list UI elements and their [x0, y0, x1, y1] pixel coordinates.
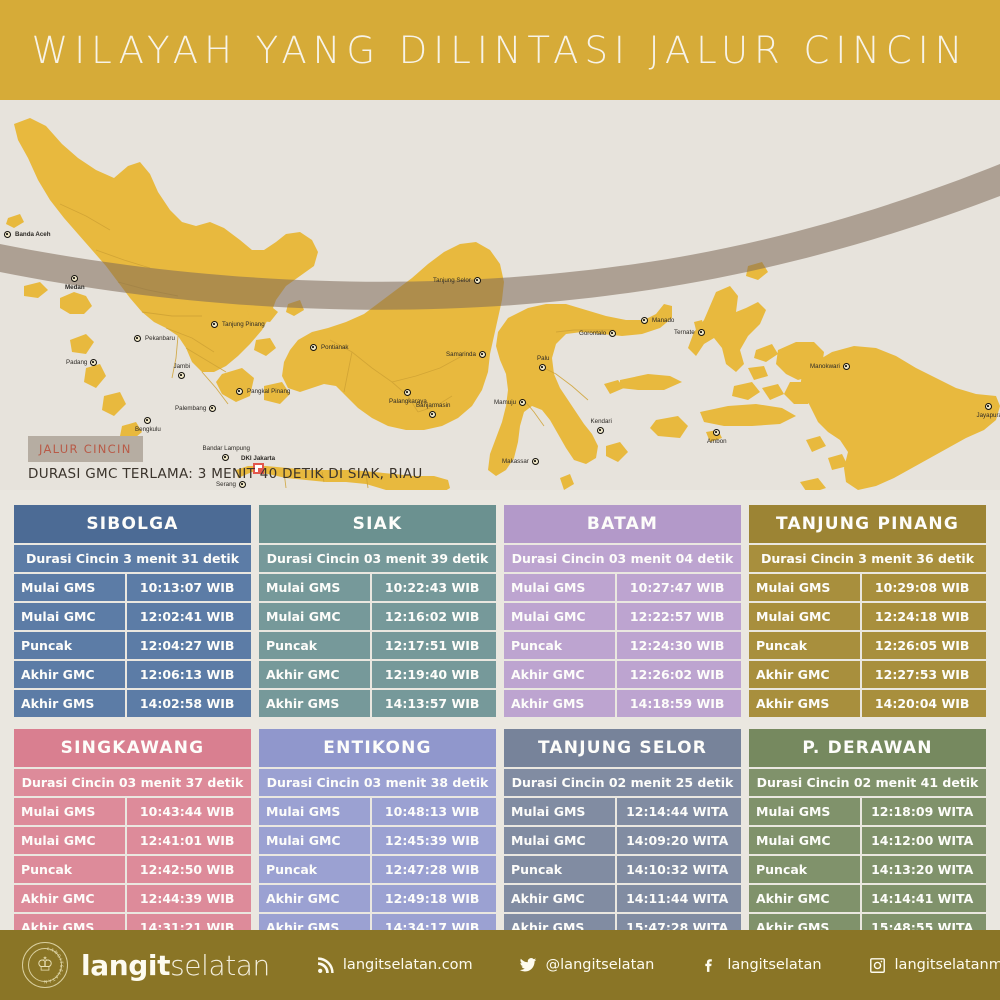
- row-label: Mulai GMS: [14, 574, 125, 601]
- map-marker-jambi: [178, 372, 185, 379]
- footer-link-twitter[interactable]: @langitselatan: [519, 956, 655, 975]
- map-label-tanjung-pinang: Tanjung Pinang: [222, 321, 265, 328]
- row-value: 14:13:20 WITA: [862, 856, 986, 883]
- row-value: 12:49:18 WIB: [372, 885, 496, 912]
- table-row: Puncak12:26:05 WIB: [749, 632, 986, 659]
- footer-socials: langitselatan.com@langitselatanlangitsel…: [270, 956, 1000, 975]
- table-row: Mulai GMC12:24:18 WIB: [749, 603, 986, 630]
- card-title: ENTIKONG: [259, 729, 496, 767]
- row-label: Mulai GMC: [14, 603, 125, 630]
- table-row: Akhir GMC14:11:44 WITA: [504, 885, 741, 912]
- table-row: Akhir GMC12:44:39 WIB: [14, 885, 251, 912]
- landmass-buru: [650, 416, 688, 438]
- map-marker-bengkulu: [144, 417, 151, 424]
- map-label-pontianak: Pontianak: [321, 344, 349, 351]
- row-value: 14:10:32 WITA: [617, 856, 741, 883]
- map-marker-medan: [71, 275, 78, 282]
- card-sibolga: SIBOLGADurasi Cincin 3 menit 31 detikMul…: [14, 505, 251, 719]
- row-value: 10:27:47 WIB: [617, 574, 741, 601]
- row-label: Mulai GMS: [259, 798, 370, 825]
- landmass-selayar: [560, 474, 574, 490]
- landmass-sumatra: [14, 118, 318, 372]
- map-marker-pekanbaru: [134, 335, 141, 342]
- row-label: Mulai GMC: [14, 827, 125, 854]
- card-title: TANJUNG PINANG: [749, 505, 986, 543]
- row-value: 10:22:43 WIB: [372, 574, 496, 601]
- map-marker-bandar-lampung: [222, 454, 229, 461]
- map-label-dki-jakarta: DKI Jakarta: [241, 455, 275, 462]
- map-marker-palu: [539, 364, 546, 371]
- map-label-bandar-lampung: Bandar Lampung: [203, 445, 250, 452]
- row-value: 12:16:02 WIB: [372, 603, 496, 630]
- map-label-padang: Padang: [66, 359, 87, 366]
- table-row: Mulai GMS10:29:08 WIB: [749, 574, 986, 601]
- card-table: Mulai GMS12:18:09 WITAMulai GMC14:12:00 …: [749, 798, 986, 941]
- card-title: SIAK: [259, 505, 496, 543]
- map-marker-jayapura: [985, 403, 992, 410]
- table-row: Puncak14:10:32 WITA: [504, 856, 741, 883]
- map-marker-palembang: [209, 405, 216, 412]
- table-row: Puncak12:47:28 WIB: [259, 856, 496, 883]
- row-value: 12:44:39 WIB: [127, 885, 251, 912]
- rss-icon: [316, 956, 335, 975]
- page-title: WILAYAH YANG DILINTASI JALUR CINCIN: [32, 29, 969, 72]
- row-value: 12:17:51 WIB: [372, 632, 496, 659]
- row-label: Akhir GMS: [259, 690, 370, 717]
- landmass-lingga: [254, 338, 276, 356]
- map-marker-pontianak: [310, 344, 317, 351]
- table-row: Mulai GMS12:18:09 WITA: [749, 798, 986, 825]
- map-marker-makassar: [532, 458, 539, 465]
- map-label-medan: Medan: [65, 284, 85, 291]
- card-duration: Durasi Cincin 3 menit 31 detik: [14, 545, 251, 572]
- row-value: 12:41:01 WIB: [127, 827, 251, 854]
- row-value: 12:06:13 WIB: [127, 661, 251, 688]
- row-label: Mulai GMS: [504, 574, 615, 601]
- row-label: Mulai GMS: [749, 798, 860, 825]
- row-label: Puncak: [14, 632, 125, 659]
- landmass-raja-ampat-1: [754, 344, 778, 362]
- row-label: Akhir GMS: [504, 690, 615, 717]
- table-row: Akhir GMS14:13:57 WIB: [259, 690, 496, 717]
- row-value: 14:13:57 WIB: [372, 690, 496, 717]
- card-table: Mulai GMS10:29:08 WIBMulai GMC12:24:18 W…: [749, 574, 986, 717]
- card-duration: Durasi Cincin 03 menit 04 detik: [504, 545, 741, 572]
- card-entikong: ENTIKONGDurasi Cincin 03 menit 38 detikM…: [259, 729, 496, 943]
- footer-link-label: langitselatanmedia: [895, 957, 1000, 973]
- card-title: TANJUNG SELOR: [504, 729, 741, 767]
- facebook-icon: [700, 956, 719, 975]
- map-label-kendari: Kendari: [591, 418, 612, 425]
- legend-jalur-cincin: JALUR CINCIN: [28, 436, 143, 462]
- row-label: Akhir GMS: [749, 690, 860, 717]
- row-label: Puncak: [259, 856, 370, 883]
- row-label: Puncak: [749, 632, 860, 659]
- map-label-palu: Palu: [537, 355, 549, 362]
- row-label: Puncak: [504, 856, 615, 883]
- card-tanjung-selor: TANJUNG SELORDurasi Cincin 02 menit 25 d…: [504, 729, 741, 943]
- landmass-sula: [620, 374, 682, 390]
- map-marker-ambon: [713, 429, 720, 436]
- footer-link-label: langitselatan: [727, 957, 821, 973]
- row-label: Mulai GMS: [14, 798, 125, 825]
- row-value: 12:02:41 WIB: [127, 603, 251, 630]
- card-p-derawan: P. DERAWANDurasi Cincin 02 menit 41 deti…: [749, 729, 986, 943]
- row-value: 10:43:44 WIB: [127, 798, 251, 825]
- map-label-manokwari: Manokwari: [810, 363, 840, 370]
- twitter-icon: [519, 956, 538, 975]
- langitselatan-seal-icon: LANGITSELATAN ♔: [22, 942, 68, 988]
- horse-rider-emblem: ♔: [36, 956, 53, 975]
- map-label-bengkulu: Bengkulu: [135, 426, 161, 433]
- map-label-ambon: Ambon: [707, 438, 727, 445]
- row-value: 12:42:50 WIB: [127, 856, 251, 883]
- map-marker-ternate: [698, 329, 705, 336]
- row-label: Mulai GMS: [749, 574, 860, 601]
- table-row: Mulai GMC12:41:01 WIB: [14, 827, 251, 854]
- card-table: Mulai GMS10:48:13 WIBMulai GMC12:45:39 W…: [259, 798, 496, 941]
- card-duration: Durasi Cincin 03 menit 39 detik: [259, 545, 496, 572]
- footer-brand[interactable]: LANGITSELATAN ♔ langitselatan: [22, 942, 270, 988]
- map-marker-banda-aceh: [4, 231, 11, 238]
- landmass-mentawai-2: [84, 364, 106, 388]
- row-value: 14:20:04 WIB: [862, 690, 986, 717]
- card-row-1: SIBOLGADurasi Cincin 3 menit 31 detikMul…: [0, 505, 1000, 719]
- landmass-tanimbar: [800, 478, 826, 490]
- map-marker-padang: [90, 359, 97, 366]
- table-row: Mulai GMC14:12:00 WITA: [749, 827, 986, 854]
- row-value: 12:47:28 WIB: [372, 856, 496, 883]
- row-value: 14:02:58 WIB: [127, 690, 251, 717]
- map-marker-palangkaraya: [404, 389, 411, 396]
- table-row: Mulai GMC12:45:39 WIB: [259, 827, 496, 854]
- brand-light: selatan: [170, 949, 270, 982]
- row-label: Mulai GMC: [749, 827, 860, 854]
- map-marker-tanjung-pinang: [211, 321, 218, 328]
- row-value: 10:13:07 WIB: [127, 574, 251, 601]
- map-label-pangkal-pinang: Pangkal Pinang: [247, 388, 290, 395]
- row-label: Akhir GMC: [259, 885, 370, 912]
- table-row: Puncak14:13:20 WITA: [749, 856, 986, 883]
- row-value: 12:04:27 WIB: [127, 632, 251, 659]
- row-label: Mulai GMC: [259, 827, 370, 854]
- map-label-ternate: Ternate: [674, 329, 695, 336]
- row-value: 12:24:30 WIB: [617, 632, 741, 659]
- card-duration: Durasi Cincin 03 menit 37 detik: [14, 769, 251, 796]
- row-label: Puncak: [14, 856, 125, 883]
- card-duration: Durasi Cincin 02 menit 25 detik: [504, 769, 741, 796]
- table-row: Akhir GMC12:27:53 WIB: [749, 661, 986, 688]
- landmass-buton: [606, 442, 628, 462]
- landmass-mentawai-3: [102, 392, 126, 416]
- card-title: P. DERAWAN: [749, 729, 986, 767]
- card-title: SIBOLGA: [14, 505, 251, 543]
- row-label: Mulai GMC: [504, 827, 615, 854]
- map-label-palembang: Palembang: [175, 405, 206, 412]
- row-label: Akhir GMC: [749, 885, 860, 912]
- city-timing-cards: SIBOLGADurasi Cincin 3 menit 31 detikMul…: [0, 505, 1000, 953]
- row-value: 12:14:44 WITA: [617, 798, 741, 825]
- row-label: Mulai GMC: [504, 603, 615, 630]
- map-marker-manado: [641, 317, 648, 324]
- landmass-obi: [732, 382, 760, 400]
- row-value: 12:26:05 WIB: [862, 632, 986, 659]
- landmass-seram: [700, 404, 796, 426]
- map-label-jayapura: Jayapura: [977, 412, 1000, 419]
- row-value: 12:24:18 WIB: [862, 603, 986, 630]
- map-label-pekanbaru: Pekanbaru: [145, 335, 175, 342]
- table-row: Akhir GMC12:26:02 WIB: [504, 661, 741, 688]
- table-row: Mulai GMS12:14:44 WITA: [504, 798, 741, 825]
- footer-link-facebook[interactable]: langitselatan: [700, 956, 821, 975]
- map-marker-gorontalo: [609, 330, 616, 337]
- footer-logotype: langitselatan: [81, 949, 270, 982]
- row-label: Akhir GMS: [14, 690, 125, 717]
- table-row: Akhir GMC14:14:41 WITA: [749, 885, 986, 912]
- table-row: Akhir GMS14:18:59 WIB: [504, 690, 741, 717]
- map-marker-serang: [239, 481, 246, 488]
- table-row: Puncak12:04:27 WIB: [14, 632, 251, 659]
- landmass-nias: [60, 292, 92, 314]
- table-row: Mulai GMC14:09:20 WITA: [504, 827, 741, 854]
- row-label: Akhir GMC: [259, 661, 370, 688]
- map-label-tanjung-selor: Tanjung Selor: [433, 277, 471, 284]
- brand-bold: langit: [81, 949, 170, 982]
- card-batam: BATAMDurasi Cincin 03 menit 04 detikMula…: [504, 505, 741, 719]
- map-label-banda-aceh: Banda Aceh: [15, 231, 51, 238]
- row-value: 10:29:08 WIB: [862, 574, 986, 601]
- row-value: 12:45:39 WIB: [372, 827, 496, 854]
- map-label-mamuju: Mamuju: [494, 399, 516, 406]
- row-value: 12:26:02 WIB: [617, 661, 741, 688]
- card-table: Mulai GMS10:43:44 WIBMulai GMC12:41:01 W…: [14, 798, 251, 941]
- row-label: Puncak: [749, 856, 860, 883]
- row-label: Akhir GMC: [504, 885, 615, 912]
- card-duration: Durasi Cincin 3 menit 36 detik: [749, 545, 986, 572]
- table-row: Mulai GMS10:22:43 WIB: [259, 574, 496, 601]
- map-label-banjarmasin: Banjarmasin: [416, 402, 450, 409]
- landmass-raja-ampat-2: [748, 366, 768, 380]
- row-label: Puncak: [504, 632, 615, 659]
- card-duration: Durasi Cincin 03 menit 38 detik: [259, 769, 496, 796]
- table-row: Akhir GMC12:06:13 WIB: [14, 661, 251, 688]
- table-row: Mulai GMS10:27:47 WIB: [504, 574, 741, 601]
- map-marker-banjarmasin: [429, 411, 436, 418]
- row-value: 12:22:57 WIB: [617, 603, 741, 630]
- map-label-samarinda: Samarinda: [446, 351, 476, 358]
- row-value: 14:18:59 WIB: [617, 690, 741, 717]
- footer-link-label: @langitselatan: [546, 957, 655, 973]
- table-row: Akhir GMS14:02:58 WIB: [14, 690, 251, 717]
- row-label: Akhir GMC: [504, 661, 615, 688]
- table-row: Akhir GMC12:19:40 WIB: [259, 661, 496, 688]
- page-footer: LANGITSELATAN ♔ langitselatan langitsela…: [0, 930, 1000, 1000]
- map-marker-manokwari: [843, 363, 850, 370]
- landmass-raja-ampat-3: [762, 384, 784, 400]
- card-title: SINGKAWANG: [14, 729, 251, 767]
- table-row: Mulai GMC12:22:57 WIB: [504, 603, 741, 630]
- card-siak: SIAKDurasi Cincin 03 menit 39 detikMulai…: [259, 505, 496, 719]
- row-label: Mulai GMS: [259, 574, 370, 601]
- table-row: Puncak12:24:30 WIB: [504, 632, 741, 659]
- table-row: Mulai GMC12:16:02 WIB: [259, 603, 496, 630]
- map-label-gorontalo: Gorontalo: [579, 330, 606, 337]
- map-label-manado: Manado: [652, 317, 674, 324]
- footer-link-instagram[interactable]: langitselatanmedia: [868, 956, 1000, 975]
- row-label: Puncak: [259, 632, 370, 659]
- row-label: Akhir GMC: [14, 885, 125, 912]
- row-value: 12:27:53 WIB: [862, 661, 986, 688]
- row-value: 14:09:20 WITA: [617, 827, 741, 854]
- card-table: Mulai GMS12:14:44 WITAMulai GMC14:09:20 …: [504, 798, 741, 941]
- map-marker-tanjung-selor: [474, 277, 481, 284]
- row-label: Mulai GMC: [259, 603, 370, 630]
- map-label-jambi: Jambi: [174, 363, 191, 370]
- instagram-icon: [868, 956, 887, 975]
- card-table: Mulai GMS10:27:47 WIBMulai GMC12:22:57 W…: [504, 574, 741, 717]
- row-label: Mulai GMS: [504, 798, 615, 825]
- row-label: Akhir GMC: [749, 661, 860, 688]
- table-row: Mulai GMS10:13:07 WIB: [14, 574, 251, 601]
- table-row: Puncak12:17:51 WIB: [259, 632, 496, 659]
- row-value: 12:18:09 WITA: [862, 798, 986, 825]
- row-label: Mulai GMC: [749, 603, 860, 630]
- table-row: Puncak12:42:50 WIB: [14, 856, 251, 883]
- card-title: BATAM: [504, 505, 741, 543]
- legend-note: DURASI GMC TERLAMA: 3 MENIT 40 DETIK DI …: [28, 466, 423, 482]
- legend-label: JALUR CINCIN: [39, 442, 132, 456]
- footer-link-rss[interactable]: langitselatan.com: [316, 956, 473, 975]
- map-label-serang: Serang: [216, 481, 236, 488]
- landmass-bangka: [216, 368, 254, 402]
- indonesia-map: Banda AcehMedanTanjung PinangPekanbaruPa…: [0, 100, 1000, 490]
- map-marker-kendari: [597, 427, 604, 434]
- map-marker-samarinda: [479, 351, 486, 358]
- map-label-makassar: Makassar: [502, 458, 529, 465]
- row-label: Akhir GMC: [14, 661, 125, 688]
- row-value: 14:12:00 WITA: [862, 827, 986, 854]
- table-row: Akhir GMC12:49:18 WIB: [259, 885, 496, 912]
- card-table: Mulai GMS10:22:43 WIBMulai GMC12:16:02 W…: [259, 574, 496, 717]
- row-value: 14:14:41 WITA: [862, 885, 986, 912]
- landmass-weh: [6, 214, 24, 228]
- table-row: Akhir GMS14:20:04 WIB: [749, 690, 986, 717]
- table-row: Mulai GMS10:48:13 WIB: [259, 798, 496, 825]
- landmass-kai: [806, 436, 826, 452]
- row-value: 12:19:40 WIB: [372, 661, 496, 688]
- map-marker-mamuju: [519, 399, 526, 406]
- landmass-simeulue: [24, 282, 48, 298]
- card-row-2: SINGKAWANGDurasi Cincin 03 menit 37 deti…: [0, 729, 1000, 943]
- card-singkawang: SINGKAWANGDurasi Cincin 03 menit 37 deti…: [14, 729, 251, 943]
- footer-link-label: langitselatan.com: [343, 957, 473, 973]
- row-value: 14:11:44 WITA: [617, 885, 741, 912]
- table-row: Mulai GMS10:43:44 WIB: [14, 798, 251, 825]
- infographic-page: WILAYAH YANG DILINTASI JALUR CINCIN: [0, 0, 1000, 1000]
- map-marker-pangkal-pinang: [236, 388, 243, 395]
- card-table: Mulai GMS10:13:07 WIBMulai GMC12:02:41 W…: [14, 574, 251, 717]
- page-header: WILAYAH YANG DILINTASI JALUR CINCIN: [0, 0, 1000, 100]
- landmass-mentawai-1: [70, 334, 94, 354]
- card-duration: Durasi Cincin 02 menit 41 detik: [749, 769, 986, 796]
- row-value: 10:48:13 WIB: [372, 798, 496, 825]
- table-row: Mulai GMC12:02:41 WIB: [14, 603, 251, 630]
- card-tanjung-pinang: TANJUNG PINANGDurasi Cincin 3 menit 36 d…: [749, 505, 986, 719]
